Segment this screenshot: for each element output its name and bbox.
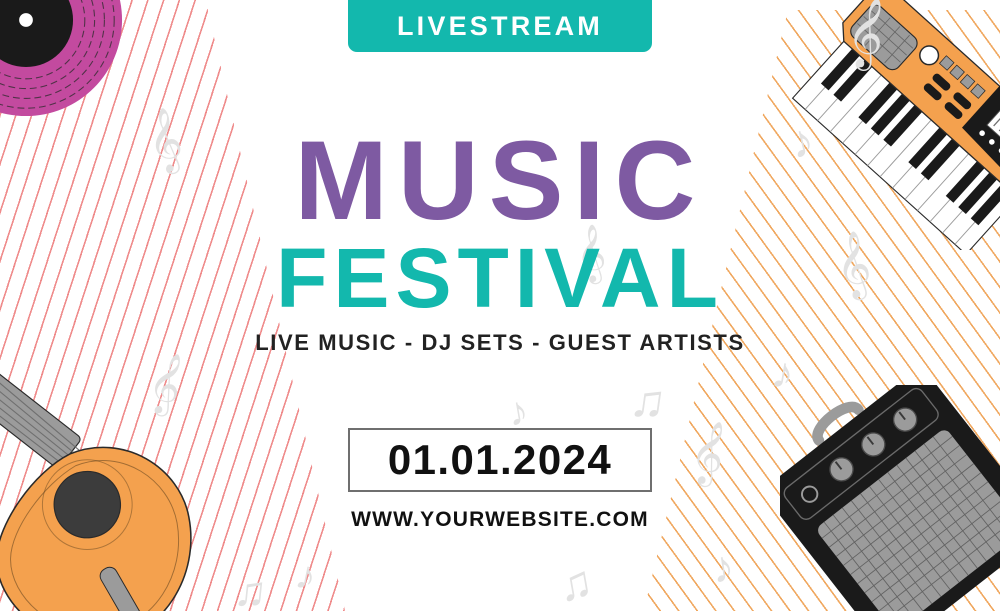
eighth-note-icon: ♪ [709,545,737,592]
livestream-label: LIVESTREAM [397,11,603,42]
title-festival: FESTIVAL [0,236,1000,322]
tagline: LIVE MUSIC - DJ SETS - GUEST ARTISTS [0,330,1000,356]
eighth-note-icon: ♪ [292,554,320,597]
date-value: 01.01.2024 [388,436,612,484]
treble-clef-icon: 𝄞 [687,421,731,483]
guitar-amplifier-icon [780,385,1000,611]
date-box: 01.01.2024 [348,428,652,492]
title-music: MUSIC [0,128,1000,234]
beamed-notes-icon: ♫ [627,376,669,429]
livestream-banner: LIVESTREAM [348,0,652,52]
headline-block: MUSIC FESTIVAL LIVE MUSIC - DJ SETS - GU… [0,128,1000,356]
website-url[interactable]: WWW.YOURWEBSITE.COM [0,508,1000,532]
vinyl-record-icon [0,0,124,118]
music-festival-poster: 𝄞𝄞𝄞𝄞𝄞𝄞♪♪♪♫♫♫♪♪ LIVESTREAM MUSIC FESTIVAL… [0,0,1000,611]
beamed-notes-icon: ♫ [554,557,596,608]
eighth-note-icon: ♪ [505,391,532,434]
